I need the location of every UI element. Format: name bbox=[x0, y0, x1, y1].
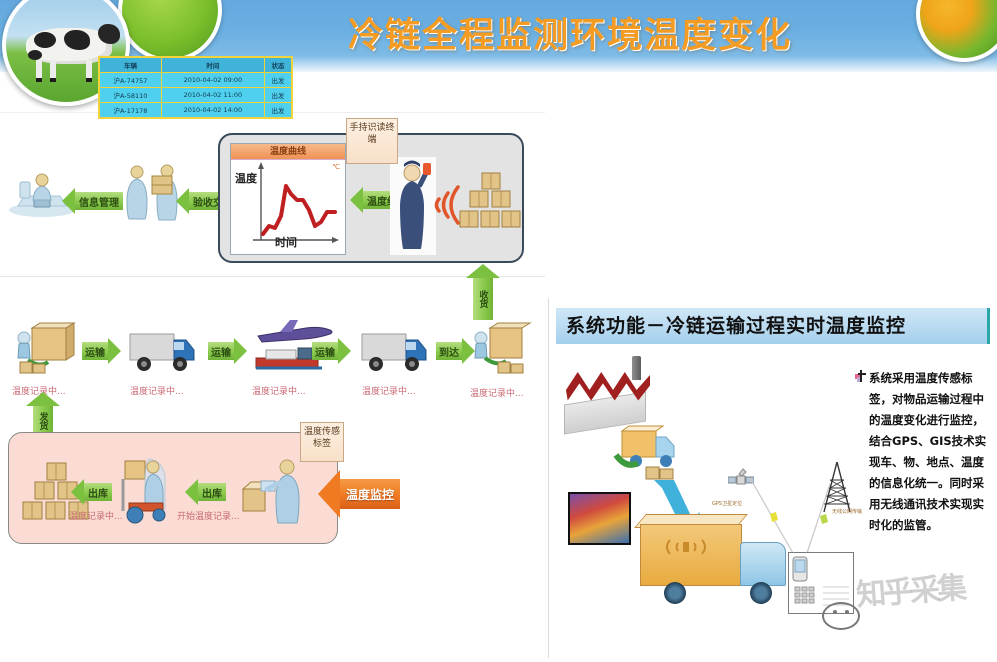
arrow-transport-2: 运输 bbox=[208, 338, 247, 364]
vehicle-status-table: 车辆 时间 状态 沪A-74757 2010-04-02 09:00 出发 沪A… bbox=[98, 56, 293, 119]
arrow-tip bbox=[71, 479, 84, 505]
column-header-status: 状态 bbox=[264, 57, 292, 73]
temperature-x-axis-label: 时间 bbox=[275, 234, 297, 250]
flow-node-truck-2 bbox=[360, 330, 436, 374]
arrow-tip bbox=[350, 187, 363, 213]
flow-caption: 温度记录中... bbox=[362, 384, 416, 397]
arrow-information-management: 信息管理 bbox=[62, 188, 123, 214]
arrow-tip bbox=[185, 479, 198, 505]
arrow-tip bbox=[338, 338, 351, 364]
handheld-scanner-worker bbox=[390, 157, 436, 255]
arrow-label: 运输 bbox=[208, 342, 234, 360]
column-header-time: 时间 bbox=[161, 57, 264, 73]
cow-spot bbox=[28, 50, 42, 60]
arrow-label: 温度监控 bbox=[340, 479, 400, 509]
cell-time: 2010-04-02 11:00 bbox=[161, 88, 264, 103]
flow-caption: 温度记录中... bbox=[470, 386, 524, 399]
arrow-label: 到达 bbox=[436, 342, 462, 360]
arrow-tip bbox=[234, 338, 247, 364]
arrow-label: 运输 bbox=[312, 342, 338, 360]
arrow-transport-1: 运输 bbox=[82, 338, 121, 364]
cell-vehicle: 沪A-58110 bbox=[99, 88, 161, 103]
cow-leg bbox=[36, 60, 42, 82]
cold-storage-photo bbox=[568, 492, 631, 545]
cow-leg bbox=[50, 60, 56, 82]
cell-vehicle: 沪A-17178 bbox=[99, 103, 161, 119]
table-row: 沪A-58110 2010-04-02 11:00 出发 bbox=[99, 88, 292, 103]
arrow-tip bbox=[26, 392, 60, 406]
cell-time: 2010-04-02 09:00 bbox=[161, 73, 264, 88]
arrow-label: 信息管理 bbox=[75, 192, 123, 210]
cow-leg bbox=[86, 60, 92, 82]
warehouse-outbound-zone: 出库 温度记录中... 出库 开始温度记录... bbox=[8, 432, 338, 544]
wechat-eye bbox=[845, 610, 849, 614]
right-panel-title: 系统功能－冷链运输过程实时温度监控 bbox=[556, 308, 990, 344]
cow-spot bbox=[64, 30, 90, 50]
arrow-tip bbox=[108, 338, 121, 364]
table-row: 沪A-74757 2010-04-02 09:00 出发 bbox=[99, 73, 292, 88]
arrow-tip bbox=[318, 470, 340, 518]
temperature-y-axis-label: 温度 bbox=[235, 170, 257, 186]
callout-temperature-sensor-tag: 温度传感标签 bbox=[300, 422, 344, 462]
cell-time: 2010-04-02 14:00 bbox=[161, 103, 264, 119]
cell-status: 出发 bbox=[264, 88, 292, 103]
flow-node-delivery bbox=[468, 322, 534, 380]
column-header-vehicle: 车辆 bbox=[99, 57, 161, 73]
outbound-caption-1: 温度记录中... bbox=[69, 509, 123, 522]
rfid-cartons bbox=[458, 169, 522, 243]
arrow-transport-3: 运输 bbox=[312, 338, 351, 364]
arrow-label: 收货 bbox=[473, 278, 493, 320]
cell-status: 出发 bbox=[264, 73, 292, 88]
arrow-tip bbox=[176, 188, 189, 214]
wechat-logo bbox=[822, 600, 868, 634]
flow-node-loading bbox=[10, 322, 76, 378]
truck-wheel bbox=[664, 582, 686, 604]
arrow-receive-goods: 收货 bbox=[466, 264, 500, 320]
forklift-operator bbox=[119, 455, 177, 525]
page-title: 冷链全程监测环境温度变化 bbox=[300, 8, 840, 64]
system-description-text: 系统采用温度传感标签，对物品运输过程中的温度变化进行监控，结合GPS、GIS技术… bbox=[869, 368, 993, 536]
arrow-outbound-2: 出库 bbox=[185, 479, 226, 505]
slide-root: 冷链全程监测环境温度变化 信息管理 验收交接 温度曲线 ℃ bbox=[0, 0, 997, 662]
cell-status: 出发 bbox=[264, 103, 292, 119]
wechat-eye bbox=[833, 610, 837, 614]
callout-handheld-terminal: 手持识读终端 bbox=[346, 118, 398, 164]
wechat-bubble bbox=[822, 602, 860, 630]
divider bbox=[0, 276, 545, 277]
arrow-tip bbox=[466, 264, 500, 278]
cow-spot bbox=[34, 32, 56, 48]
table-row: 沪A-17178 2010-04-02 14:00 出发 bbox=[99, 103, 292, 119]
flow-node-truck-1 bbox=[128, 330, 204, 374]
outbound-caption-2: 开始温度记录... bbox=[177, 509, 240, 522]
table-header-row: 车辆 时间 状态 bbox=[99, 57, 292, 73]
arrow-tip bbox=[62, 188, 75, 214]
arrow-label: 出库 bbox=[198, 483, 226, 501]
truck-wheel bbox=[750, 582, 772, 604]
chimney bbox=[632, 356, 641, 380]
arrow-temperature-monitoring: 温度监控 bbox=[318, 470, 400, 518]
flow-caption: 温度记录中... bbox=[252, 384, 306, 397]
tagging-worker bbox=[239, 457, 305, 525]
arrow-outbound-1: 出库 bbox=[71, 479, 112, 505]
cow-head bbox=[98, 24, 120, 44]
arrow-label: 出库 bbox=[84, 483, 112, 501]
temperature-curve-card: 温度曲线 ℃ 温度 时间 bbox=[230, 143, 346, 255]
arrow-label: 运输 bbox=[82, 342, 108, 360]
arrow-ship-goods: 发货 bbox=[26, 392, 60, 436]
flow-caption: 温度记录中... bbox=[130, 384, 184, 397]
temperature-curve-title: 温度曲线 bbox=[231, 144, 345, 160]
net-label-gps: GPS卫星定位 bbox=[712, 500, 742, 507]
bullet-icon bbox=[855, 370, 867, 382]
net-label-wireless: 无线公网传输 bbox=[832, 508, 862, 515]
cell-vehicle: 沪A-74757 bbox=[99, 73, 161, 88]
